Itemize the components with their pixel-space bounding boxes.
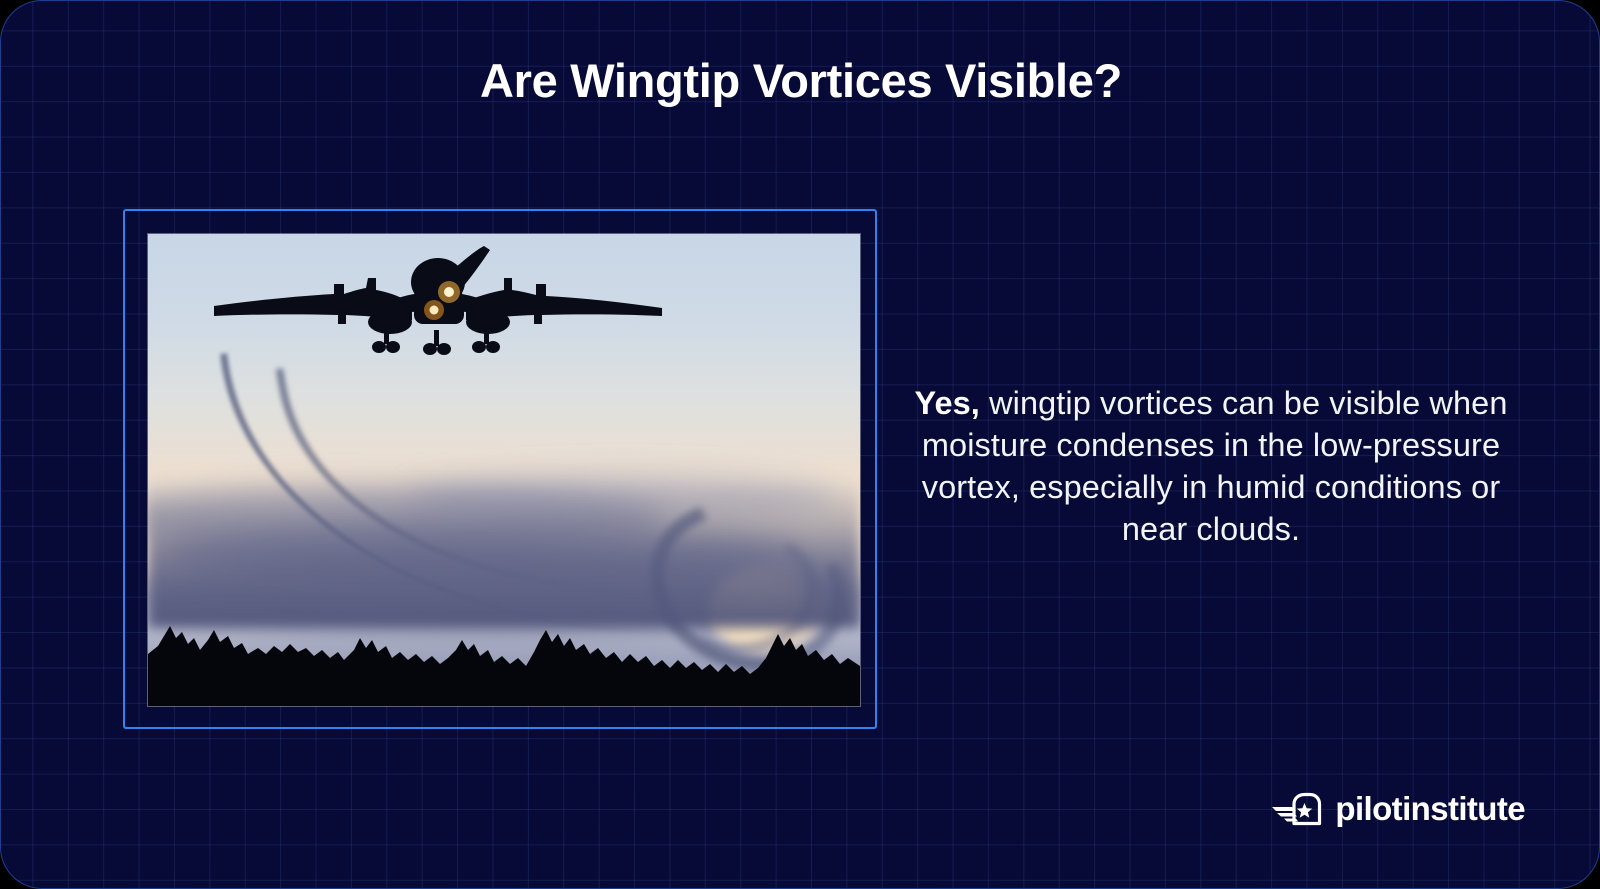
slide-card: Are Wingtip Vortices Visible? [0,0,1600,889]
answer-paragraph: Yes, wingtip vortices can be visible whe… [901,382,1521,550]
brand-logo[interactable]: pilotinstitute [1272,790,1525,828]
photo-frame [123,209,877,729]
page-title: Are Wingtip Vortices Visible? [1,53,1600,108]
vortex-photo [148,234,860,706]
treeline-silhouette [148,588,860,706]
answer-lead: Yes, [914,385,979,421]
answer-body: wingtip vortices can be visible when moi… [922,385,1508,547]
brand-wordmark: pilotinstitute [1335,790,1525,828]
winged-shield-star-badge-icon [1272,792,1324,826]
